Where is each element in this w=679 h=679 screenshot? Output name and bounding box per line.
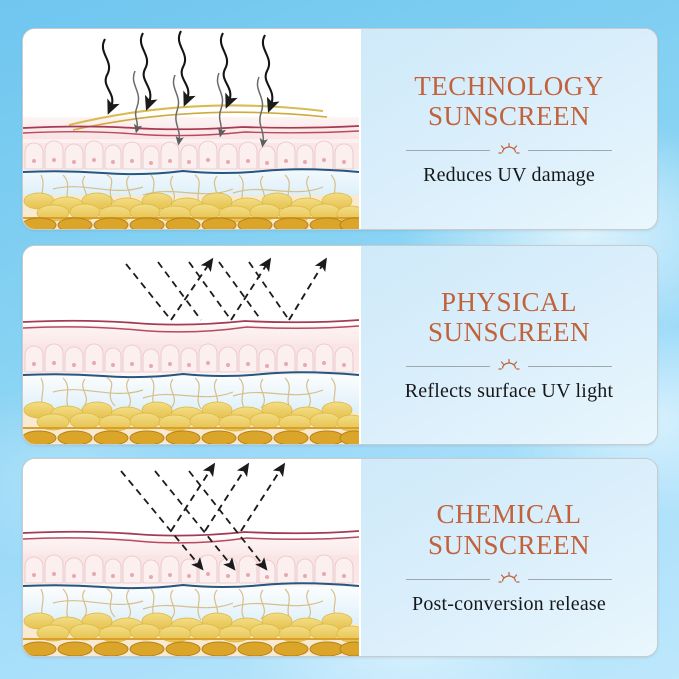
divider-line-left	[406, 150, 490, 151]
card-subtitle-physical: Reflects surface UV light	[393, 380, 625, 403]
divider-ornament	[406, 569, 612, 589]
card-chemical[interactable]: CHEMICAL SUNSCREEN Post-conversion relea…	[22, 458, 658, 657]
sun-ornament-icon	[496, 570, 522, 588]
divider-line-right	[528, 579, 612, 580]
basal-cell-row	[23, 555, 359, 583]
card-list: TECHNOLOGY SUNSCREEN Reduces UV damage	[0, 0, 679, 679]
divider-line-right	[528, 366, 612, 367]
figure-technology	[23, 29, 359, 229]
card-title-physical: PHYSICAL SUNSCREEN	[428, 287, 590, 347]
card-title-technology: TECHNOLOGY SUNSCREEN	[414, 71, 603, 131]
card-subtitle-technology: Reduces UV damage	[411, 164, 607, 187]
card-subtitle-chemical: Post-conversion release	[400, 593, 618, 616]
divider-line-right	[528, 150, 612, 151]
title-line-1: PHYSICAL	[441, 287, 577, 317]
title-line-1: CHEMICAL	[437, 499, 582, 529]
sun-ornament-icon	[496, 141, 522, 159]
divider-ornament	[406, 356, 612, 376]
text-panel-chemical: CHEMICAL SUNSCREEN Post-conversion relea…	[359, 459, 657, 656]
divider-line-left	[406, 366, 490, 367]
text-panel-technology: TECHNOLOGY SUNSCREEN Reduces UV damage	[359, 29, 657, 229]
card-title-chemical: CHEMICAL SUNSCREEN	[428, 499, 590, 559]
diagram-uv-penetration	[23, 29, 359, 229]
divider-ornament	[406, 140, 612, 160]
text-panel-physical: PHYSICAL SUNSCREEN Reflects surface UV l…	[359, 246, 657, 444]
diagram-uv-reflection	[23, 246, 359, 444]
sun-ornament-icon	[496, 357, 522, 375]
figure-physical	[23, 246, 359, 444]
title-line-2: SUNSCREEN	[428, 530, 590, 560]
diagram-uv-conversion	[23, 459, 359, 656]
basal-cell-row	[23, 141, 359, 169]
card-physical[interactable]: PHYSICAL SUNSCREEN Reflects surface UV l…	[22, 245, 658, 445]
title-line-2: SUNSCREEN	[428, 317, 590, 347]
title-line-2: SUNSCREEN	[414, 101, 603, 131]
basal-cell-row	[23, 344, 359, 372]
card-technology[interactable]: TECHNOLOGY SUNSCREEN Reduces UV damage	[22, 28, 658, 230]
divider-line-left	[406, 579, 490, 580]
figure-chemical	[23, 459, 359, 656]
title-line-1: TECHNOLOGY	[414, 71, 603, 101]
